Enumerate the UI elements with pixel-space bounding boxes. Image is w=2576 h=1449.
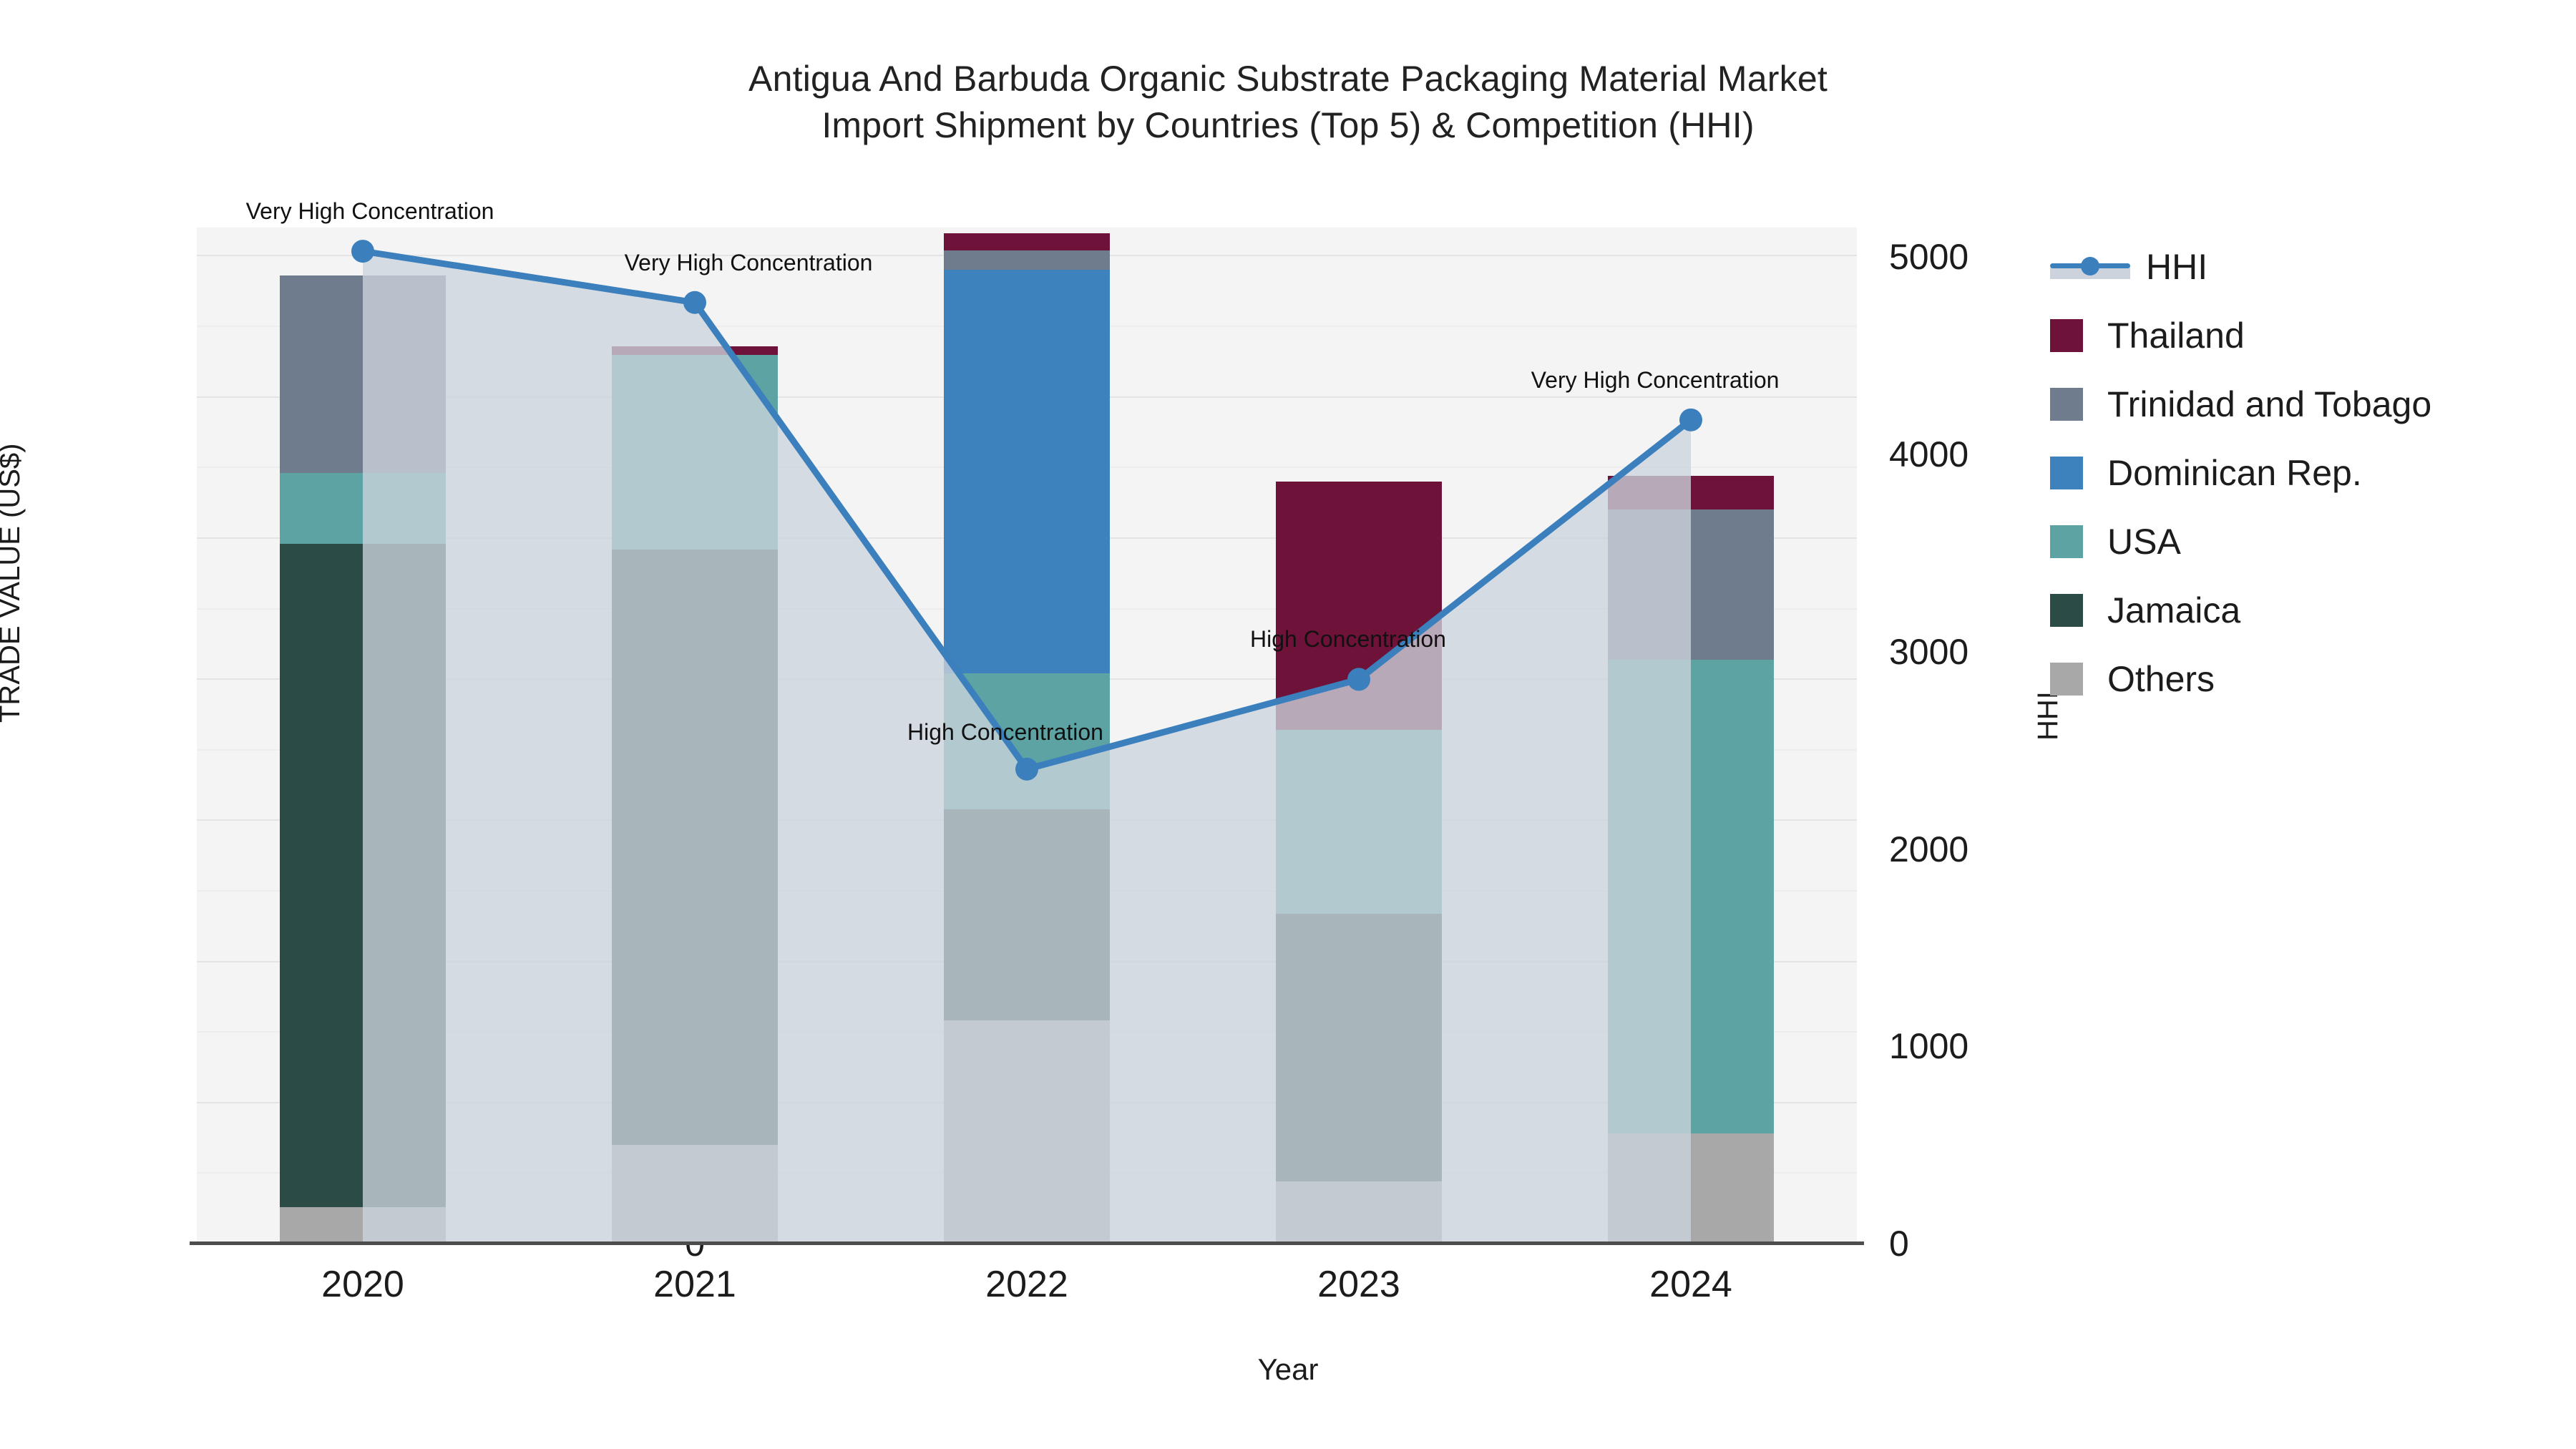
hhi-marker-2021[interactable] bbox=[683, 291, 706, 314]
x-tick-2023: 2023 bbox=[1216, 1263, 1502, 1306]
hhi-annotation-2023: High Concentration bbox=[1250, 626, 1446, 653]
legend-line-marker-icon bbox=[2050, 250, 2130, 283]
legend-label: Jamaica bbox=[2107, 592, 2240, 628]
legend-label: HHI bbox=[2146, 249, 2207, 285]
hhi-annotation-2024: Very High Concentration bbox=[1531, 367, 1780, 394]
hhi-annotation-2021: Very High Concentration bbox=[625, 250, 873, 276]
chart-title: Antigua And Barbuda Organic Substrate Pa… bbox=[0, 56, 2576, 149]
legend-swatch-icon bbox=[2050, 525, 2083, 558]
plot-area: Very High ConcentrationVery High Concent… bbox=[197, 228, 1857, 1244]
legend-swatch-icon bbox=[2050, 319, 2083, 352]
legend-label: Dominican Rep. bbox=[2107, 455, 2362, 491]
legend-item-jamaica[interactable]: Jamaica bbox=[2050, 576, 2431, 645]
hhi-marker-2023[interactable] bbox=[1347, 668, 1370, 691]
chart-title-line-2: Import Shipment by Countries (Top 5) & C… bbox=[0, 102, 2576, 149]
legend: HHIThailandTrinidad and TobagoDominican … bbox=[2050, 233, 2431, 713]
chart-title-line-1: Antigua And Barbuda Organic Substrate Pa… bbox=[748, 59, 1828, 99]
x-axis-title: Year bbox=[0, 1352, 2576, 1387]
hhi-annotation-2022: High Concentration bbox=[907, 719, 1103, 746]
y-tick-right: 2000 bbox=[1889, 829, 2132, 870]
y-tick-right: 0 bbox=[1889, 1223, 2132, 1264]
legend-item-trinidad-and-tobago[interactable]: Trinidad and Tobago bbox=[2050, 370, 2431, 439]
legend-label: Trinidad and Tobago bbox=[2107, 386, 2431, 422]
x-tick-2020: 2020 bbox=[220, 1263, 506, 1306]
legend-label: Thailand bbox=[2107, 318, 2245, 353]
x-tick-2024: 2024 bbox=[1548, 1263, 1834, 1306]
legend-label: Others bbox=[2107, 661, 2215, 697]
hhi-marker-2022[interactable] bbox=[1015, 758, 1038, 781]
hhi-marker-2020[interactable] bbox=[351, 240, 374, 263]
hhi-area-fill bbox=[363, 251, 1691, 1244]
hhi-annotation-2020: Very High Concentration bbox=[246, 198, 494, 225]
legend-swatch-icon bbox=[2050, 663, 2083, 696]
legend-label: USA bbox=[2107, 524, 2181, 560]
legend-item-dominican-rep-[interactable]: Dominican Rep. bbox=[2050, 439, 2431, 507]
y-axis-left-title: TRADE VALUE (US$) bbox=[0, 444, 26, 723]
legend-item-hhi[interactable]: HHI bbox=[2050, 233, 2431, 301]
legend-item-thailand[interactable]: Thailand bbox=[2050, 301, 2431, 370]
legend-item-others[interactable]: Others bbox=[2050, 645, 2431, 713]
x-tick-2022: 2022 bbox=[884, 1263, 1170, 1306]
y-tick-right: 1000 bbox=[1889, 1025, 2132, 1067]
legend-item-usa[interactable]: USA bbox=[2050, 507, 2431, 576]
x-axis-line bbox=[190, 1241, 1864, 1245]
legend-swatch-icon bbox=[2050, 457, 2083, 489]
legend-swatch-icon bbox=[2050, 594, 2083, 627]
x-tick-2021: 2021 bbox=[552, 1263, 838, 1306]
legend-swatch-icon bbox=[2050, 388, 2083, 421]
hhi-marker-2024[interactable] bbox=[1679, 409, 1702, 431]
